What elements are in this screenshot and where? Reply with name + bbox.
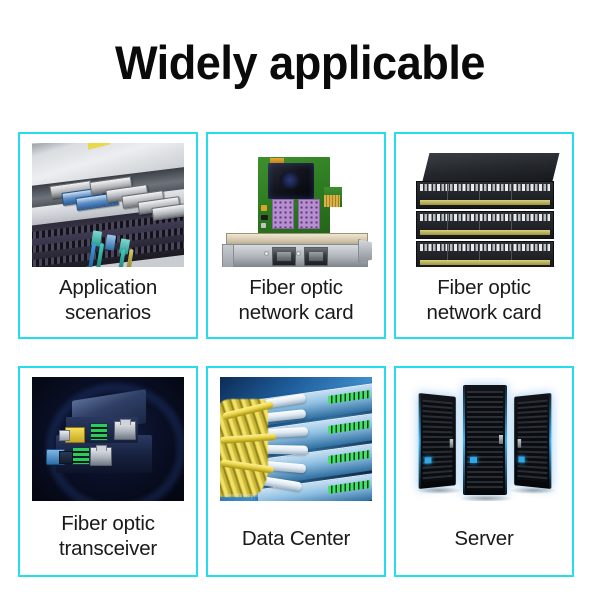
- port-divider: [447, 214, 448, 230]
- rack-edge-glow-left: [463, 385, 465, 495]
- rack-status-led: [425, 457, 432, 463]
- rack-shadow-left: [416, 487, 462, 494]
- port-divider: [511, 184, 512, 200]
- smd-component-1: [261, 205, 267, 211]
- server-slots: [467, 391, 503, 489]
- switch-top-lid: [422, 153, 559, 183]
- pci-bracket-tail: [358, 239, 372, 263]
- card-label: Data Center: [238, 501, 354, 575]
- server-rack-left: [419, 393, 456, 489]
- card-server[interactable]: Server: [394, 366, 574, 577]
- port-divider: [447, 184, 448, 200]
- card-application-scenarios[interactable]: Application scenarios: [18, 132, 198, 339]
- port-divider: [511, 244, 512, 260]
- server-rack-center: [463, 385, 507, 495]
- sfp-module-blue: [46, 449, 65, 465]
- poster-root: Widely applicable: [0, 0, 600, 600]
- data-center-image: sznetfiberoptic: [220, 377, 372, 501]
- card-label: Application scenarios: [55, 267, 161, 337]
- status-led-2: [296, 251, 301, 256]
- card-label-line2: network card: [239, 301, 354, 324]
- card-data-center[interactable]: sznetfiberoptic Data Center: [206, 366, 386, 577]
- rack-edge-glow: [419, 393, 421, 489]
- switch-accent-strip: [420, 260, 550, 265]
- card-label-line2: network card: [427, 301, 542, 324]
- card-label-line2: scenarios: [65, 301, 151, 324]
- card-label-line2: transceiver: [59, 537, 157, 560]
- rack-edge-glow-right: [505, 385, 507, 495]
- optical-port-1: [272, 247, 296, 266]
- led-block-upper: [90, 423, 108, 441]
- port-divider: [479, 214, 480, 230]
- server-slots: [423, 400, 453, 483]
- card-label: Server: [450, 501, 517, 575]
- switch-unit-3: [416, 241, 554, 267]
- rj45-port-upper: [114, 421, 136, 440]
- card-fiber-optic-transceiver[interactable]: Fiber optic transceiver: [18, 366, 198, 577]
- switch-port-row: [420, 184, 550, 191]
- stacked-switches-image: [408, 143, 560, 267]
- port-divider: [447, 244, 448, 260]
- card-label-line1: Server: [454, 526, 513, 551]
- pci-bracket-hook: [222, 244, 234, 267]
- sfp-cage-1: [272, 199, 294, 229]
- server-racks-image: [408, 377, 560, 501]
- page-title: Widely applicable: [12, 36, 588, 90]
- led-block-lower: [72, 447, 90, 465]
- rack-handle: [518, 439, 522, 448]
- rack-edge-glow: [549, 393, 551, 489]
- rack-shadow-right: [510, 487, 556, 494]
- card-label-line1: Fiber optic: [249, 276, 343, 299]
- rack-shadow-center: [460, 495, 512, 501]
- switch-port-row: [420, 214, 550, 221]
- card-fiber-optic-network-card-1[interactable]: Fiber optic network card: [206, 132, 386, 339]
- card-label-line1: Application: [59, 276, 157, 299]
- sfp-module-yellow: [65, 427, 85, 443]
- heatsink: [268, 163, 314, 199]
- card-label: Fiber optic transceiver: [55, 501, 161, 575]
- card-label-line1: Data Center: [242, 526, 350, 551]
- card-label: Fiber optic network card: [423, 267, 546, 337]
- smd-component-2: [261, 215, 268, 220]
- port-divider: [511, 214, 512, 230]
- switch-accent-strip: [420, 200, 550, 205]
- card-fiber-optic-network-card-2[interactable]: Fiber optic network card: [394, 132, 574, 339]
- status-led-1: [264, 251, 269, 256]
- image-watermark: sznetfiberoptic: [223, 493, 260, 499]
- port-divider: [479, 184, 480, 200]
- card-label-line1: Fiber optic: [61, 512, 155, 535]
- card-grid: Application scenarios: [18, 132, 582, 577]
- switch-unit-1: [416, 181, 554, 209]
- server-rack-right: [514, 393, 551, 489]
- fiber-network-card-image: [220, 143, 372, 267]
- port-divider: [479, 244, 480, 260]
- optical-port-2: [304, 247, 328, 266]
- server-slots: [518, 400, 548, 483]
- rack-handle: [450, 439, 453, 448]
- application-scenarios-image: [32, 143, 184, 267]
- rj45-port-lower: [90, 447, 112, 466]
- switch-accent-strip: [420, 230, 550, 235]
- card-label-line1: Fiber optic: [437, 276, 531, 299]
- rack-status-led: [470, 457, 477, 463]
- ventilation-slots: [118, 440, 148, 466]
- card-label: Fiber optic network card: [235, 267, 358, 337]
- chassis-label-sticker: [88, 143, 110, 150]
- switch-port-row: [420, 244, 550, 251]
- smd-component-3: [261, 223, 266, 228]
- rack-handle: [499, 435, 503, 444]
- gold-fingers: [324, 195, 340, 207]
- rack-status-led: [519, 457, 525, 463]
- sfp-cage-2: [298, 199, 320, 229]
- switch-unit-2: [416, 211, 554, 239]
- fiber-transceiver-image: [32, 377, 184, 501]
